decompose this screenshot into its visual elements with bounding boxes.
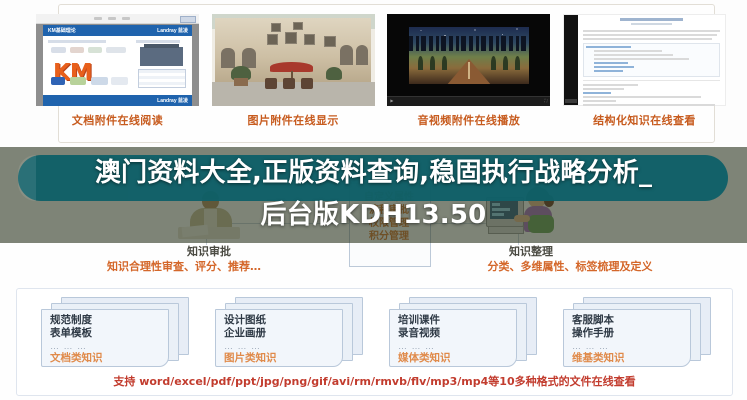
left-title: 知识审批 xyxy=(130,245,288,259)
doc-brand-right: Landray 蓝凌 xyxy=(157,27,188,34)
video-screen xyxy=(409,27,530,84)
card-line2: 表单模板 xyxy=(50,327,162,340)
screenshot-stage: KM基础理论 Landray 蓝凌 KM xyxy=(0,0,747,400)
knowledge-card-image[interactable]: 设计图纸 企业画册 … … … 图片类知识 xyxy=(215,297,365,369)
photo-thumb[interactable] xyxy=(212,14,375,106)
caption-document: 文档附件在线阅读 xyxy=(36,112,199,128)
card-line1: 设计图纸 xyxy=(224,314,336,327)
card-line2: 操作手册 xyxy=(572,327,684,340)
knowledge-card-row: 规范制度 表单模板 … … … 文档类知识 设计图纸 企业画册 … … … xyxy=(41,297,713,369)
feature-thumbnail-row: KM基础理论 Landray 蓝凌 KM xyxy=(36,14,726,110)
feature-item-document[interactable]: KM基础理论 Landray 蓝凌 KM xyxy=(36,14,199,106)
document-page: KM基础理论 Landray 蓝凌 KM xyxy=(43,25,192,104)
knowledge-card-wiki[interactable]: 客服脚本 操作手册 … … … 维基类知识 xyxy=(563,297,713,369)
knowledge-types-panel: 规范制度 表单模板 … … … 文档类知识 设计图纸 企业画册 … … … xyxy=(16,288,733,396)
wiki-body xyxy=(583,18,720,104)
card-kind: 文档类知识 xyxy=(50,352,162,364)
knowledge-types-section: 规范制度 表单模板 … … … 文档类知识 设计图纸 企业画册 … … … xyxy=(0,288,747,400)
caption-structured: 结构化知识在线查看 xyxy=(563,112,726,128)
viewer-toolbar-button[interactable] xyxy=(180,16,196,23)
card-line1: 培训课件 xyxy=(398,314,510,327)
doc-brand-left: Landray 蓝凌 xyxy=(157,97,188,104)
support-formats: word/excel/pdf/ppt/jpg/png/gif/avi/rm/rm… xyxy=(135,375,488,388)
document-viewer-thumb[interactable]: KM基础理论 Landray 蓝凌 KM xyxy=(36,14,199,106)
video-player-thumb[interactable]: ▶ ⛶ xyxy=(387,14,550,106)
card-line2: 录音视频 xyxy=(398,327,510,340)
supported-formats-text: 支持 word/excel/pdf/ppt/jpg/png/gif/avi/rm… xyxy=(17,373,732,389)
video-fullscreen-icon[interactable]: ⛶ xyxy=(545,98,548,103)
doc-header-band: KM基础理论 Landray 蓝凌 xyxy=(43,25,192,36)
card-dots: … … … xyxy=(572,341,684,352)
doc-footer-band: Landray 蓝凌 xyxy=(43,95,192,106)
card-kind: 媒体类知识 xyxy=(398,352,510,364)
video-control-bar[interactable]: ▶ ⛶ xyxy=(387,96,550,106)
knowledge-card-document[interactable]: 规范制度 表单模板 … … … 文档类知识 xyxy=(41,297,191,369)
right-title: 知识整理 xyxy=(452,245,610,259)
feature-caption-row: 文档附件在线阅读 图片附件在线显示 音视频附件在线播放 结构化知识在线查看 xyxy=(36,112,726,128)
doc-body: KM xyxy=(48,39,187,90)
card-kind: 图片类知识 xyxy=(224,352,336,364)
right-subtitle: 分类、多维属性、标签梳理及定义 xyxy=(410,259,730,274)
doc-heading: KM基础理论 xyxy=(48,27,76,34)
left-subtitle-block: 知识合理性审查、评分、推荐… xyxy=(24,259,344,274)
wiki-toc-box xyxy=(583,43,720,77)
card-line2: 企业画册 xyxy=(224,327,336,340)
card-line1: 客服脚本 xyxy=(572,314,684,327)
doc-column-left: KM xyxy=(48,39,131,90)
structured-knowledge-thumb[interactable] xyxy=(563,14,726,106)
support-prefix: 支持 xyxy=(113,375,135,388)
knowledge-card-media[interactable]: 培训课件 录音视频 … … … 媒体类知识 xyxy=(389,297,539,369)
wiki-side-rail xyxy=(564,15,578,105)
card-line1: 规范制度 xyxy=(50,314,162,327)
right-label-block: 知识整理 xyxy=(452,245,610,259)
feature-item-video[interactable]: ▶ ⛶ xyxy=(387,14,550,106)
page-title-line1: 澳门资料大全,正版资料查询,稳固执行战略分析_ xyxy=(95,158,652,188)
caption-photo: 图片附件在线显示 xyxy=(212,112,375,128)
feature-item-photo[interactable] xyxy=(212,14,375,106)
caption-video: 音视频附件在线播放 xyxy=(387,112,550,128)
right-subtitle-block: 分类、多维属性、标签梳理及定义 xyxy=(410,259,730,274)
card-dots: … … … xyxy=(50,341,162,352)
left-subtitle: 知识合理性审查、评分、推荐… xyxy=(24,259,344,274)
page-title: 澳门资料大全,正版资料查询,稳固执行战略分析_ 后台版KDH13.50 xyxy=(0,152,747,236)
video-play-icon[interactable]: ▶ xyxy=(390,98,393,103)
page-title-line2: 后台版KDH13.50 xyxy=(0,194,747,236)
card-dots: … … … xyxy=(398,341,510,352)
doc-table xyxy=(138,69,186,88)
left-label-block: 知识审批 xyxy=(130,245,288,259)
doc-column-right xyxy=(136,39,187,90)
city-skyline xyxy=(409,36,530,51)
building-illustration xyxy=(140,47,183,65)
top-feature-strip: KM基础理论 Landray 蓝凌 KM xyxy=(0,0,747,145)
support-suffix: 等10多种格式的文件在线查看 xyxy=(488,375,635,388)
card-kind: 维基类知识 xyxy=(572,352,684,364)
card-dots: … … … xyxy=(224,341,336,352)
viewer-toolbar xyxy=(36,14,199,24)
feature-item-structured[interactable] xyxy=(563,14,726,106)
